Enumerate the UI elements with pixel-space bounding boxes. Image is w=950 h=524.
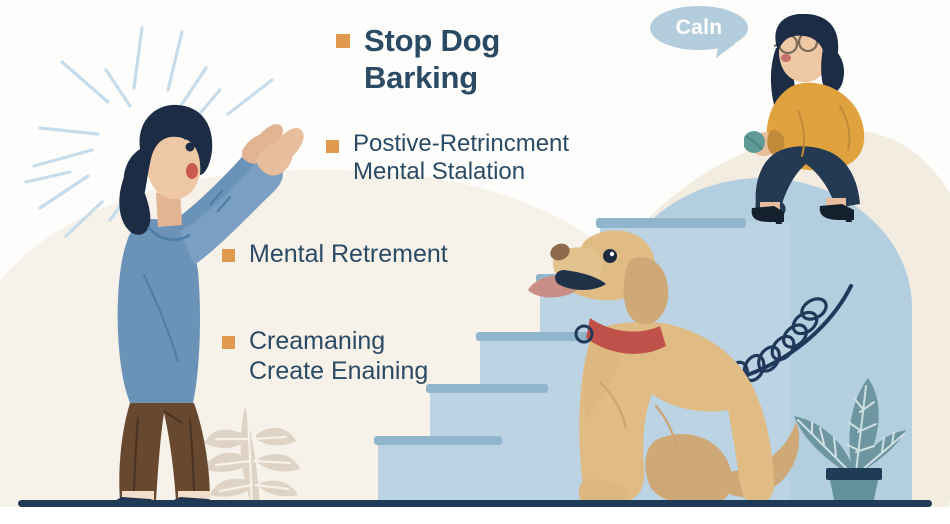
illustration-canvas: Caln Stop Dog Barking Postive-Retrincmen…: [0, 0, 950, 524]
ground-base: [0, 507, 950, 524]
speech-bubble-text: Caln: [676, 16, 723, 40]
bullet-title-text: Stop Dog Barking: [364, 23, 500, 96]
bullet-item-3: Mental Retrement: [222, 240, 448, 270]
bullet-2-text: Postive-Retrincment Mental Stalation: [353, 130, 569, 187]
bullet-square-icon: [222, 336, 235, 349]
bullet-item-2: Postive-Retrincment Mental Stalation: [326, 130, 569, 187]
ground-line: [18, 500, 932, 507]
bullet-item-4: Creamaning Create Enaining: [222, 327, 428, 386]
seated-woman-with-glasses: [744, 14, 950, 229]
bullet-4-text: Creamaning Create Enaining: [249, 327, 428, 386]
bullet-square-icon: [222, 249, 235, 262]
bullet-3-text: Mental Retrement: [249, 240, 448, 270]
bullet-square-icon: [326, 140, 339, 153]
pointing-woman: [60, 95, 320, 520]
potted-plant: [788, 378, 918, 518]
bullet-square-icon: [336, 34, 350, 48]
bullet-item-title: Stop Dog Barking: [336, 23, 500, 96]
sitting-labrador: [528, 214, 828, 519]
speech-bubble: Caln: [650, 6, 748, 50]
